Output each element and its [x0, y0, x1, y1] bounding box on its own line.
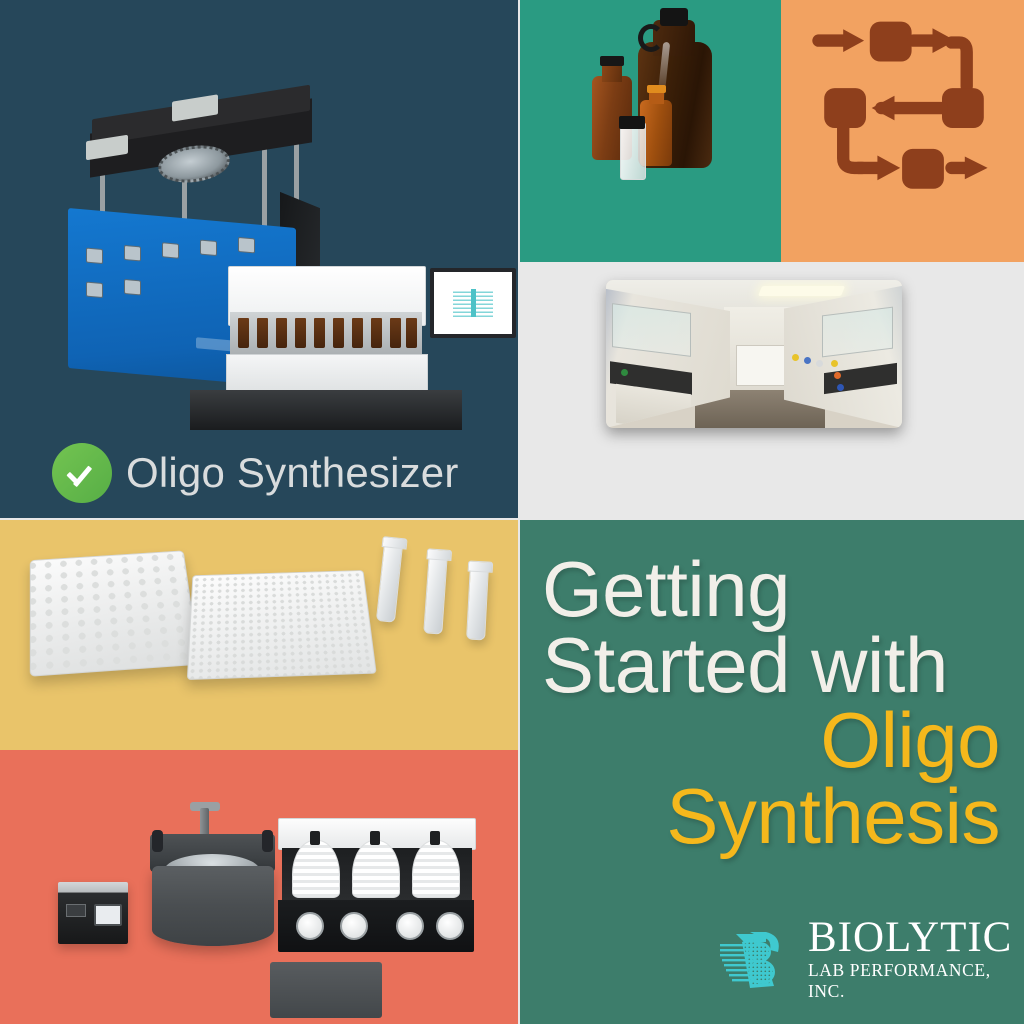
- logo-company-name: BIOLYTIC: [808, 917, 1024, 958]
- fume-hood-photo: [606, 280, 902, 428]
- panel-lab-safety-fume-hood: Lab Safety - Fume Hood: [520, 264, 1024, 518]
- title-line-2: Started with: [542, 628, 1000, 704]
- post-synthesis-accessories-photo: [40, 774, 500, 964]
- title-line-3: Oligo: [542, 703, 1000, 779]
- pressure-chamber: [152, 866, 274, 946]
- microplates-and-columns-photo: [22, 532, 502, 712]
- synthesis-column: [423, 553, 448, 634]
- title-line-1: Getting: [542, 552, 1000, 628]
- title-line-4: Synthesis: [542, 779, 1000, 855]
- panel-label-text: Oligo Synthesizer: [126, 449, 459, 496]
- biolytic-logo-mark: [720, 926, 796, 992]
- synthesizer-monitor: [430, 268, 516, 338]
- plate-384-well: [187, 570, 377, 680]
- reagent-bottles-photo: [520, 0, 781, 200]
- synthesis-column: [466, 566, 489, 641]
- logo-tagline: LAB PERFORMANCE, INC.: [808, 960, 1024, 1002]
- panel-title: Getting Started with Oligo Synthesis: [520, 520, 1024, 1024]
- poster-title: Getting Started with Oligo Synthesis: [542, 552, 1000, 855]
- panel-oligo-synthesizer: Oligo Synthesizer: [0, 0, 518, 518]
- controller-unit: [58, 882, 128, 944]
- biolytic-logo: BIOLYTIC ® LAB PERFORMANCE, INC.: [720, 917, 1024, 1002]
- panel-synthesis-protocols: Synthesis Protocols: [781, 0, 1024, 262]
- oligo-processor: [278, 800, 478, 950]
- panel-synthesis-media: Synthesis media: [0, 520, 518, 750]
- plate-96-well: [30, 550, 200, 676]
- check-circle-icon: [52, 443, 112, 503]
- infographic-poster: Oligo Synthesizer Monomers, Reagen: [0, 0, 1024, 1024]
- biolytic-wordmark: BIOLYTIC ® LAB PERFORMANCE, INC.: [808, 917, 1024, 1002]
- synthesis-column: [376, 541, 403, 623]
- oligo-synthesizer-photo: [30, 40, 490, 430]
- panel-monomers-reagents-solvents: Monomers, Reagents, Solvents: [520, 0, 781, 262]
- workflow-flowchart-icon: [809, 14, 999, 204]
- panel-post-synthesis-accessories: Post-Synthesis Accessories: [0, 750, 518, 1024]
- label-oligo-synthesizer: Oligo Synthesizer: [52, 443, 459, 503]
